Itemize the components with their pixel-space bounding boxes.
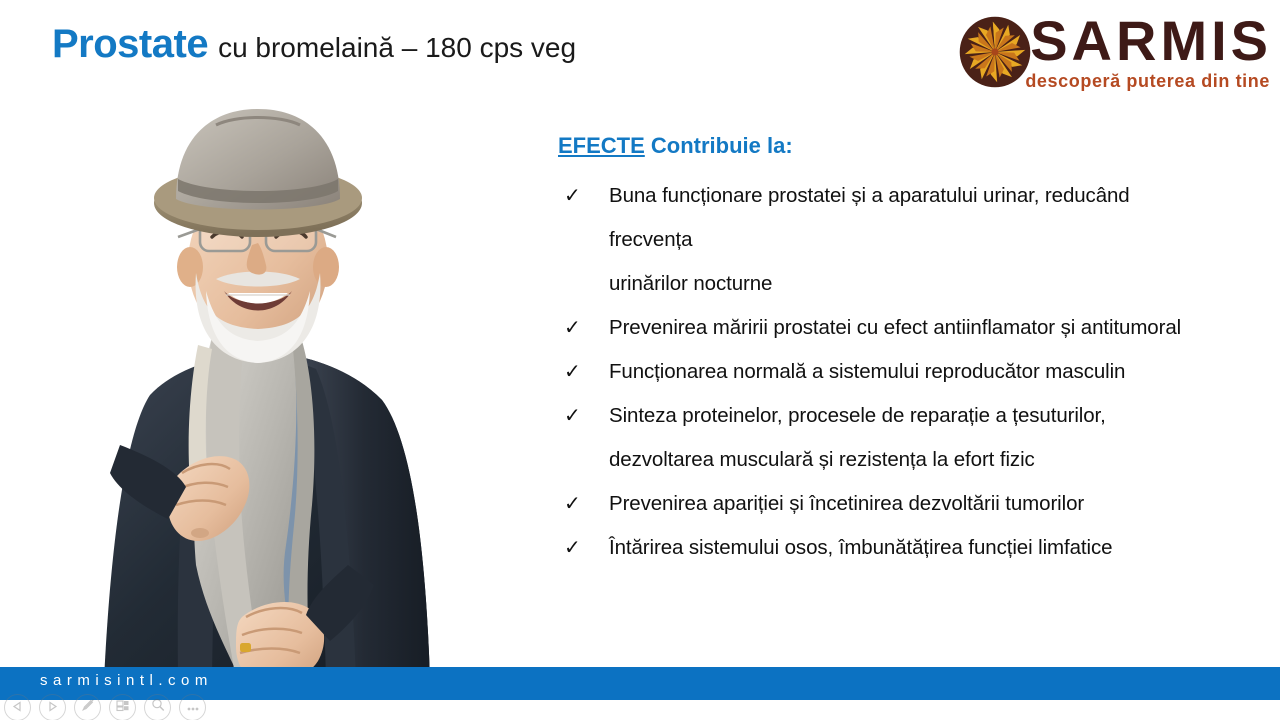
previous-slide-button[interactable] bbox=[4, 694, 31, 720]
list-item: ✓ Întărirea sistemului osos, îmbunătățir… bbox=[558, 526, 1270, 570]
list-item: ✓ Prevenirea apariției și încetinirea de… bbox=[558, 482, 1270, 526]
list-item: ✓ Prevenirea măririi prostatei cu efect … bbox=[558, 306, 1270, 350]
list-item: ✓ Funcționarea normală a sistemului repr… bbox=[558, 350, 1270, 394]
checkmark-icon: ✓ bbox=[558, 350, 609, 394]
logo-tagline: descoperă puterea din tine bbox=[1025, 71, 1270, 92]
page-title: Prostatecu bromelaină – 180 cps veg bbox=[52, 22, 576, 67]
list-item: frecvența bbox=[558, 218, 1270, 262]
zoom-slide-button[interactable] bbox=[144, 694, 171, 720]
list-item: dezvoltarea musculară și rezistența la e… bbox=[558, 438, 1270, 482]
list-item-text: dezvoltarea musculară și rezistența la e… bbox=[609, 438, 1270, 482]
pen-annotate-button[interactable] bbox=[74, 694, 101, 720]
triangle-right-icon bbox=[47, 699, 58, 717]
checkmark-icon: ✓ bbox=[558, 394, 609, 438]
triangle-left-icon bbox=[12, 699, 23, 717]
grid-slides-icon bbox=[116, 699, 130, 717]
logo-wordmark: SARMIS bbox=[1030, 14, 1272, 69]
title-product-name: Prostate bbox=[52, 22, 208, 66]
checkmark-icon: ✓ bbox=[558, 306, 609, 350]
list-item-text: Funcționarea normală a sistemului reprod… bbox=[609, 350, 1270, 394]
list-item: ✓ Sinteza proteinelor, procesele de repa… bbox=[558, 394, 1270, 438]
website-url: sarmisintl.com bbox=[40, 672, 213, 689]
effects-heading-rest: Contribuie la: bbox=[645, 133, 793, 158]
sunburst-icon bbox=[959, 16, 1031, 88]
next-slide-button[interactable] bbox=[39, 694, 66, 720]
presentation-slide: Prostatecu bromelaină – 180 cps veg bbox=[0, 0, 1280, 720]
sarmis-logo: SARMIS descoperă puterea din tine bbox=[959, 14, 1272, 92]
ellipsis-icon bbox=[186, 699, 200, 717]
effects-bullet-list: ✓ Buna funcționare prostatei și a aparat… bbox=[558, 174, 1270, 570]
list-item-text: Întărirea sistemului osos, îmbunătățirea… bbox=[609, 526, 1270, 570]
checkmark-icon: ✓ bbox=[558, 482, 609, 526]
list-item-text: Prevenirea apariției și încetinirea dezv… bbox=[609, 482, 1270, 526]
list-item-text: frecvența bbox=[609, 218, 1270, 262]
checkmark-icon: ✓ bbox=[558, 526, 609, 570]
pen-icon bbox=[81, 698, 95, 717]
magnifier-icon bbox=[151, 698, 165, 717]
effects-content: EFECTE Contribuie la: ✓ Buna funcționare… bbox=[558, 132, 1270, 570]
list-item-text: Sinteza proteinelor, procesele de repara… bbox=[609, 394, 1270, 438]
list-item: ✓ Buna funcționare prostatei și a aparat… bbox=[558, 174, 1270, 218]
checkmark-icon: ✓ bbox=[558, 174, 609, 218]
list-item-text: urinărilor nocturne bbox=[609, 262, 1270, 306]
list-item-text: Buna funcționare prostatei și a aparatul… bbox=[609, 174, 1270, 218]
all-slides-button[interactable] bbox=[109, 694, 136, 720]
more-options-button[interactable] bbox=[179, 694, 206, 720]
product-hero-photo bbox=[0, 95, 520, 680]
effects-heading: EFECTE Contribuie la: bbox=[558, 132, 1270, 160]
list-item-text: Prevenirea măririi prostatei cu efect an… bbox=[609, 306, 1270, 350]
effects-heading-underlined: EFECTE bbox=[558, 133, 645, 158]
slideshow-controls bbox=[4, 694, 206, 720]
list-item: urinărilor nocturne bbox=[558, 262, 1270, 306]
title-subtitle: cu bromelaină – 180 cps veg bbox=[218, 32, 576, 63]
